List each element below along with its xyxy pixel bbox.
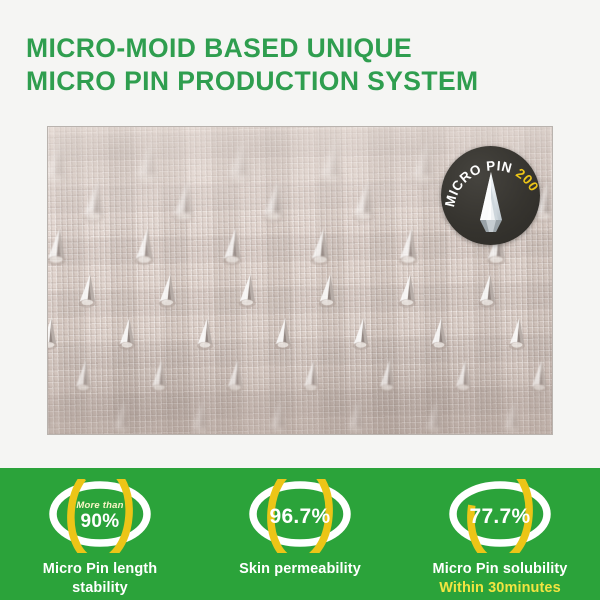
micro-pin xyxy=(76,273,101,311)
page-title-line-2: MICRO PIN PRODUCTION SYSTEM xyxy=(26,65,566,98)
stat-value-text: 96.7% xyxy=(269,506,330,527)
stat-progress-ring: 96.7% xyxy=(241,479,359,553)
micro-pin xyxy=(47,227,71,269)
stat-label: Skin permeability xyxy=(239,560,361,579)
photo-depth-blur-bottom xyxy=(48,354,552,434)
micro-pin xyxy=(47,317,61,353)
micro-pin xyxy=(428,317,451,353)
stat-progress-ring: More than90% xyxy=(41,479,159,553)
stat-label: Micro Pin solubilityWithin 30minutes xyxy=(433,560,568,598)
micro-pin xyxy=(220,227,248,269)
micro-pin xyxy=(316,273,341,311)
stat-card-1: More than90%Micro Pin lengthstability xyxy=(0,468,200,600)
micro-pin xyxy=(132,227,160,269)
micro-pin xyxy=(476,273,501,311)
stat-value: 90% xyxy=(76,512,123,531)
stat-label-line-1: Skin permeability xyxy=(239,560,361,579)
stat-value: 77.7% xyxy=(469,506,530,527)
micro-pin-count-badge: MICRO PIN 200EA xyxy=(441,146,540,245)
badge-arc-main: MICRO PIN xyxy=(442,158,520,208)
stats-panel: More than90%Micro Pin lengthstability96.… xyxy=(0,468,600,600)
stat-value-text: 77.7% xyxy=(469,506,530,527)
micro-pin xyxy=(506,317,529,353)
page-title-line-1: MICRO-MOID BASED UNIQUE xyxy=(26,32,566,65)
micro-pin xyxy=(350,317,373,353)
micro-pin xyxy=(272,317,295,353)
stat-progress-ring: 77.7% xyxy=(441,479,559,553)
stat-value-prefix: More than xyxy=(76,501,123,511)
stat-label-line-2: stability xyxy=(43,579,157,598)
micro-pin xyxy=(396,227,424,269)
micro-pin xyxy=(116,317,139,353)
micro-pin xyxy=(156,273,181,311)
stat-label-line-1: Micro Pin length xyxy=(43,560,157,579)
stat-card-2: 96.7%Skin permeability xyxy=(200,468,400,600)
stat-value-text: More than90% xyxy=(76,501,123,532)
page-title: MICRO-MOID BASED UNIQUE MICRO PIN PRODUC… xyxy=(26,32,566,98)
micro-pin xyxy=(308,227,336,269)
stats-row: More than90%Micro Pin lengthstability96.… xyxy=(0,468,600,600)
stat-value: 96.7% xyxy=(269,506,330,527)
micro-pin xyxy=(236,273,261,311)
micro-pin xyxy=(194,317,217,353)
micro-pin xyxy=(396,273,421,311)
stat-sublabel: Within 30minutes xyxy=(433,579,568,598)
stat-label: Micro Pin lengthstability xyxy=(43,560,157,598)
stat-card-3: 77.7%Micro Pin solubilityWithin 30minute… xyxy=(400,468,600,600)
stat-label-line-1: Micro Pin solubility xyxy=(433,560,568,579)
micro-pin-crystal-icon xyxy=(480,172,502,232)
